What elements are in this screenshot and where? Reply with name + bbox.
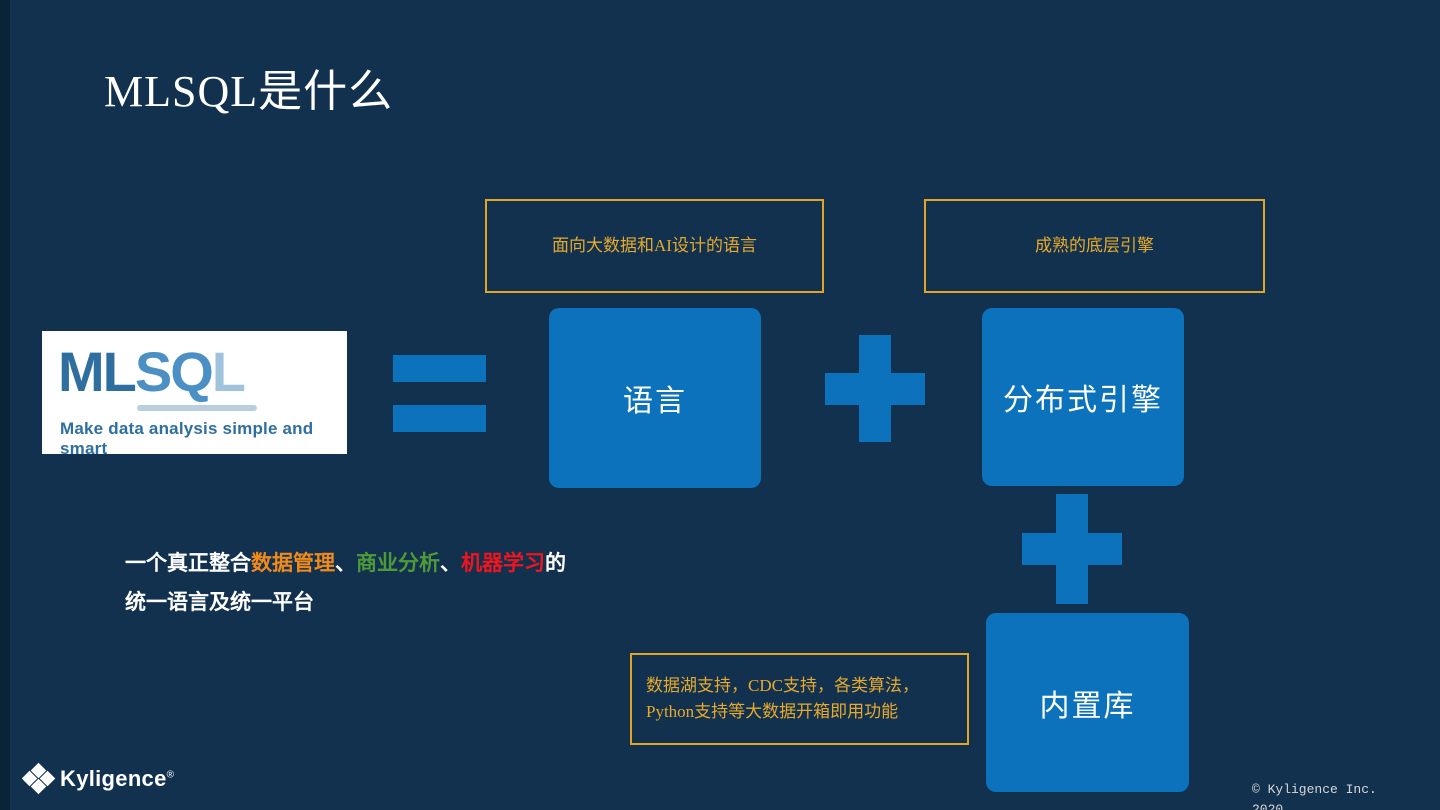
callout-language: 面向大数据和AI设计的语言 xyxy=(485,199,824,293)
footer-brand: Kyligence® xyxy=(24,765,174,793)
summary-highlight-data-management: 数据管理 xyxy=(251,552,335,575)
logo-word-part1: ML xyxy=(58,340,135,403)
summary-line-2: 统一语言及统一平台 xyxy=(125,584,745,623)
summary-separator-2: 、 xyxy=(440,552,461,575)
slide-canvas: MLSQL是什么 MLSQL Make data analysis simple… xyxy=(0,0,1440,810)
footer-brand-name: Kyligence® xyxy=(60,766,174,792)
equals-sign-icon xyxy=(393,355,486,432)
plus-bar-vertical xyxy=(859,335,891,442)
box-distributed-engine: 分布式引擎 xyxy=(982,308,1184,486)
copyright-notice: © Kyligence Inc. 2020, All Rights xyxy=(1252,780,1422,810)
summary-highlight-machine-learning: 机器学习 xyxy=(461,552,545,575)
mlsql-logo-card: MLSQL Make data analysis simple and smar… xyxy=(42,331,347,454)
equals-bar-bottom xyxy=(393,405,486,432)
callout-builtin: 数据湖支持，CDC支持，各类算法，Python支持等大数据开箱即用功能 xyxy=(630,653,969,745)
mlsql-logo-wordmark: MLSQL xyxy=(58,339,244,404)
summary-separator-1: 、 xyxy=(335,552,356,575)
box-builtin-library: 内置库 xyxy=(986,613,1189,792)
logo-word-part2: SQ xyxy=(135,340,212,403)
summary-prefix: 一个真正整合 xyxy=(125,552,251,575)
kyligence-diamond-icon xyxy=(24,765,52,793)
summary-text: 一个真正整合数据管理、商业分析、机器学习的 统一语言及统一平台 xyxy=(125,545,745,623)
footer-brand-text: Kyligence xyxy=(60,766,167,791)
copyright-line-1: © Kyligence Inc. 2020, xyxy=(1252,780,1422,810)
summary-highlight-business-analysis: 商业分析 xyxy=(356,552,440,575)
logo-word-part3: L xyxy=(212,340,244,403)
page-title: MLSQL是什么 xyxy=(104,55,393,119)
registered-mark-icon: ® xyxy=(167,770,175,781)
logo-underline-shape xyxy=(137,405,257,411)
plus-sign-icon-horizontal xyxy=(825,335,925,442)
summary-suffix: 的 xyxy=(545,552,566,575)
summary-line-1: 一个真正整合数据管理、商业分析、机器学习的 xyxy=(125,545,745,584)
left-accent-bar xyxy=(0,0,10,810)
plus-sign-icon-vertical xyxy=(1022,494,1122,604)
callout-engine: 成熟的底层引擎 xyxy=(924,199,1265,293)
plus-bar-vertical xyxy=(1056,494,1088,604)
logo-tagline: Make data analysis simple and smart xyxy=(60,419,347,454)
equals-bar-top xyxy=(393,355,486,382)
box-language: 语言 xyxy=(549,308,761,488)
